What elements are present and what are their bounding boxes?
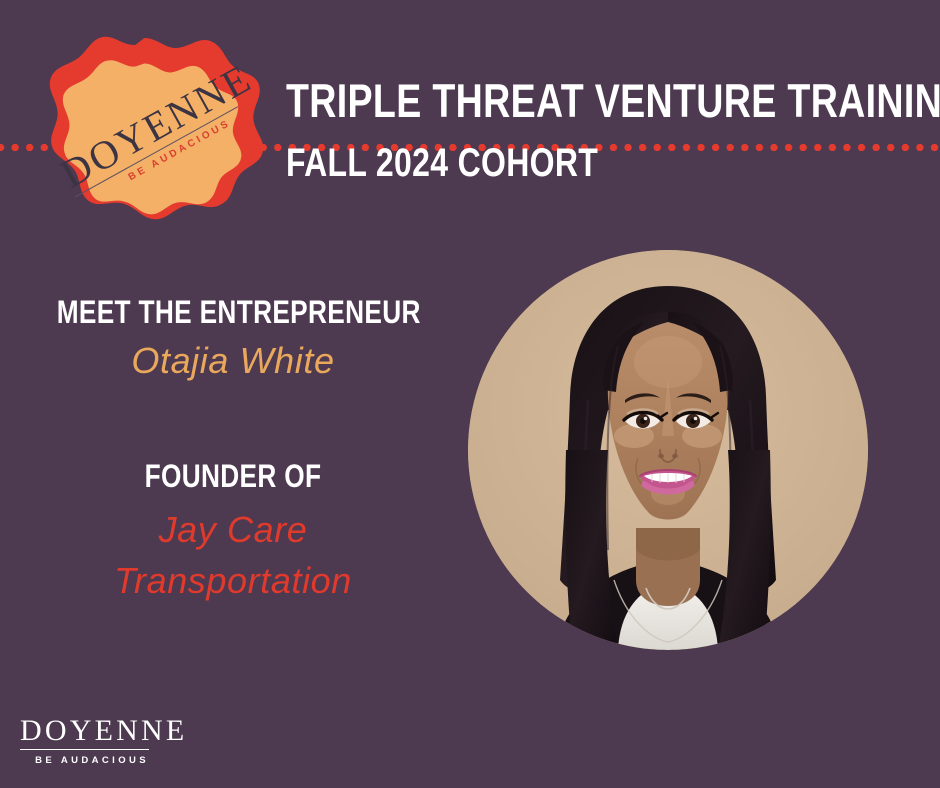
footer-wordmark: DOYENNE [20,716,149,750]
company-name-line2: Transportation [18,555,448,606]
entrepreneur-name: Otajia White [18,338,448,384]
poster-canvas: DOYENNE BE AUDACIOUS TRIPLE THREAT VENTU… [0,0,940,788]
badge-scallop-icon [34,24,266,256]
headline-primary: TRIPLE THREAT VENTURE TRAINING [286,78,940,124]
headline-secondary: FALL 2024 COHORT [286,143,940,183]
entrepreneur-portrait [468,250,868,650]
company-name-line1: Jay Care [18,504,448,555]
company-kicker: FOUNDER OF [57,460,410,492]
entrepreneur-kicker: MEET THE ENTREPRENEUR [57,296,410,328]
doyenne-badge-logo: DOYENNE BE AUDACIOUS [34,24,266,256]
company-name: Jay Care Transportation [18,504,448,606]
headline-group: TRIPLE THREAT VENTURE TRAINING FALL 2024… [286,78,940,183]
footer-doyenne-logo: DOYENNE BE AUDACIOUS [20,716,149,766]
company-info-block: FOUNDER OF Jay Care Transportation [18,460,448,606]
entrepreneur-info-block: MEET THE ENTREPRENEUR Otajia White FOUND… [18,296,448,606]
footer-tagline: BE AUDACIOUS [20,755,149,766]
portrait-photo-icon [468,250,868,650]
